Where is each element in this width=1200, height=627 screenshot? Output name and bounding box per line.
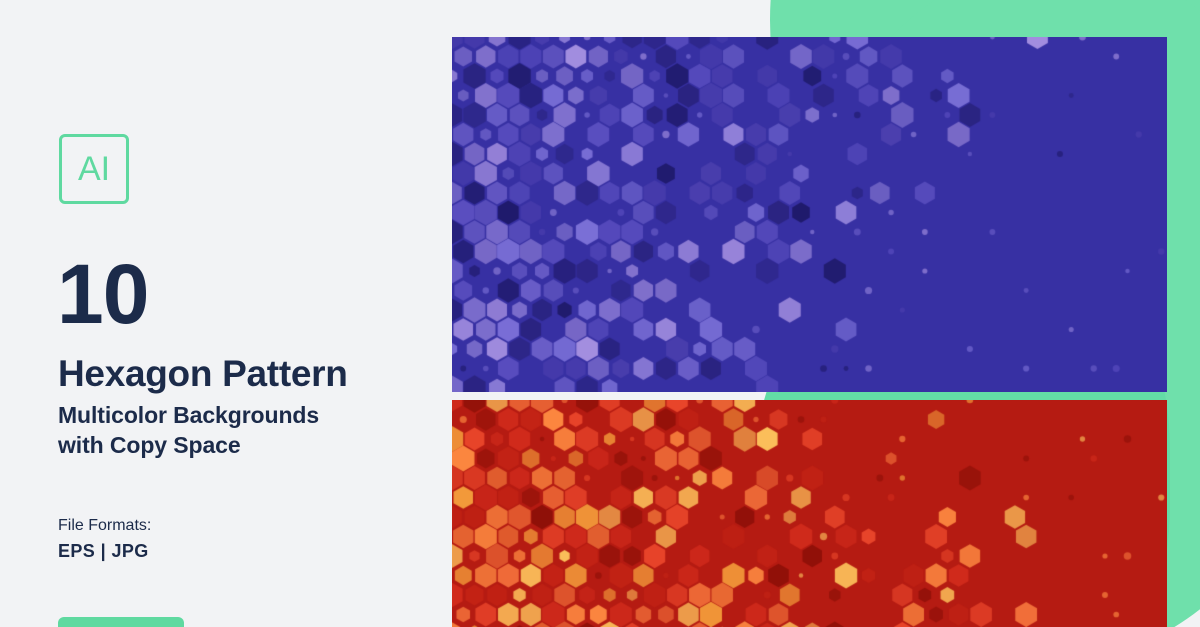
hexagon-pattern-blue-canvas (452, 37, 1167, 392)
file-formats-value: EPS | JPG (58, 542, 149, 560)
ai-file-badge-label: AI (78, 152, 110, 186)
hexagon-pattern-blue (452, 37, 1167, 392)
page-subtitle-line-2: with Copy Space (58, 430, 438, 460)
info-panel: AI 10 Hexagon Pattern Multicolor Backgro… (0, 0, 452, 627)
page-subtitle-line-1: Multicolor Backgrounds (58, 400, 438, 430)
item-count: 10 (57, 252, 148, 336)
page-subtitle: Multicolor Backgrounds with Copy Space (58, 400, 438, 461)
page-title: Hexagon Pattern (58, 354, 348, 394)
hexagon-pattern-red (452, 400, 1167, 627)
file-formats-label: File Formats: (58, 518, 151, 534)
hexagon-pattern-red-canvas (452, 400, 1167, 627)
preview-canvas: AI 10 Hexagon Pattern Multicolor Backgro… (0, 0, 1200, 627)
accent-pill (58, 617, 184, 627)
ai-file-badge: AI (59, 134, 129, 204)
